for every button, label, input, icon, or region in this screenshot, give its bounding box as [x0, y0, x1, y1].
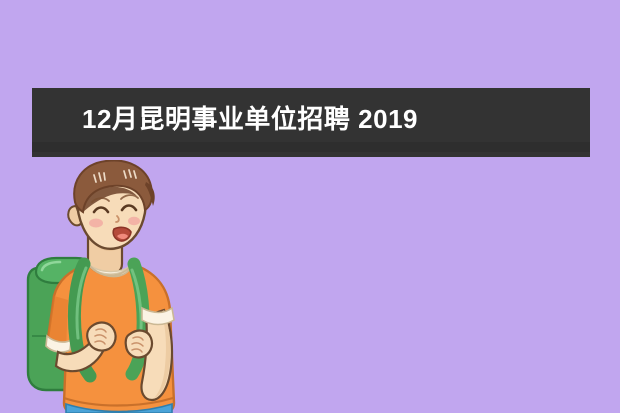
student-illustration: [14, 160, 194, 413]
page-title: 12月昆明事业单位招聘 2019: [82, 88, 418, 151]
student-illustration-svg: [14, 160, 194, 413]
screenshot-canvas: 12月昆明事业单位招聘 2019: [0, 0, 620, 413]
right-cheek-blush: [128, 217, 140, 225]
title-banner: 12月昆明事业单位招聘 2019: [32, 88, 590, 157]
left-cheek-blush: [89, 219, 103, 228]
left-hand: [87, 323, 115, 351]
